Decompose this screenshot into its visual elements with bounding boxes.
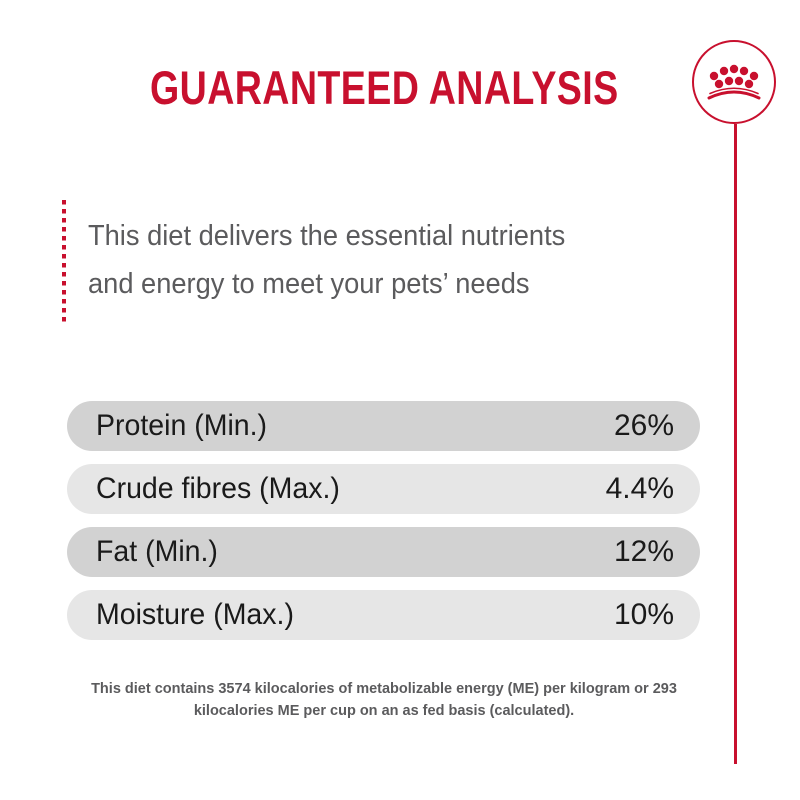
- intro-text: This diet delivers the essential nutrien…: [88, 212, 671, 308]
- nutrient-label: Moisture (Max.): [96, 600, 588, 630]
- nutrient-value: 12%: [614, 537, 674, 567]
- nutrient-row: Moisture (Max.) 10%: [67, 590, 700, 640]
- dotted-accent-rule: [62, 200, 66, 322]
- nutrient-value: 4.4%: [606, 474, 674, 504]
- nutrient-value: 26%: [614, 411, 674, 441]
- nutrient-label: Protein (Min.): [96, 411, 588, 441]
- brand-vertical-rule: [734, 124, 737, 764]
- guaranteed-analysis-panel: GUARANTEED ANALYSIS This diet delivers t…: [0, 0, 800, 800]
- intro-line-1: This diet delivers the essential nutrien…: [88, 212, 671, 260]
- nutrient-label: Crude fibres (Max.): [96, 474, 580, 504]
- nutrient-value: 10%: [614, 600, 674, 630]
- crown-icon: [706, 62, 762, 102]
- intro-line-2: and energy to meet your pets’ needs: [88, 260, 671, 308]
- nutrient-row: Fat (Min.) 12%: [67, 527, 700, 577]
- nutrient-label: Fat (Min.): [96, 537, 588, 567]
- nutrient-row: Protein (Min.) 26%: [67, 401, 700, 451]
- energy-footnote: This diet contains 3574 kilocalories of …: [72, 678, 696, 722]
- nutrient-row: Crude fibres (Max.) 4.4%: [67, 464, 700, 514]
- page-title: GUARANTEED ANALYSIS: [150, 62, 619, 114]
- brand-logo: [692, 40, 780, 128]
- nutrient-table: Protein (Min.) 26% Crude fibres (Max.) 4…: [67, 401, 700, 653]
